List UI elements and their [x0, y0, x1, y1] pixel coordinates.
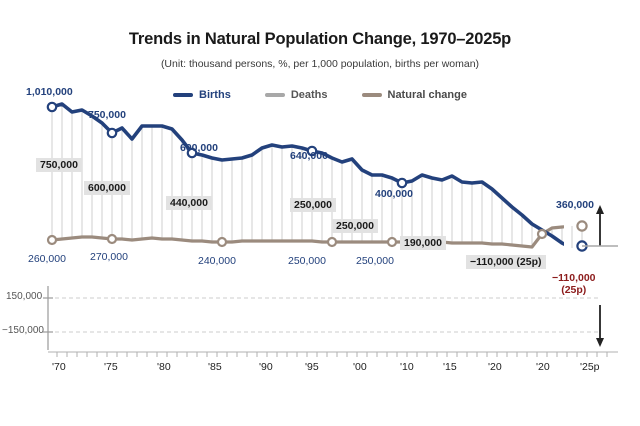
natural-marker-2000 — [328, 238, 336, 246]
y-tick-label-150000: 150,000 — [6, 291, 42, 302]
births-label-2005: 400,000 — [375, 188, 413, 200]
droplines — [52, 104, 582, 248]
x-tick-label-20-b: '20 — [536, 361, 550, 373]
births-markers — [48, 103, 587, 251]
arrow-down-head — [596, 338, 604, 347]
x-tick-label-80: '80 — [157, 361, 171, 373]
x-tick-label-25p: '25p — [580, 361, 600, 373]
natural-label-2000: 250,000 — [288, 255, 326, 267]
natural-marker-2025 — [577, 221, 586, 230]
births-label-1970: 1,010,000 — [26, 86, 73, 98]
x-tick-label-15: '15 — [443, 361, 457, 373]
natural-marker-1976 — [108, 235, 116, 243]
x-tick-label-90: '90 — [259, 361, 273, 373]
natural-marker-2023 — [538, 230, 546, 238]
boxed-label-190000: 190,000 — [400, 236, 446, 250]
boxed-label-250000-a: 250,000 — [290, 198, 336, 212]
natural-marker-1988 — [218, 238, 226, 246]
births-marker-1970 — [48, 103, 56, 111]
x-tick-label-70: '70 — [52, 361, 66, 373]
y-tick-label-neg150000: −150,000 — [2, 325, 44, 336]
births-label-1975: 750,000 — [88, 109, 126, 121]
boxed-label-600000: 600,000 — [84, 181, 130, 195]
boxed-label-750000: 750,000 — [36, 158, 82, 172]
end-value-amount: −110,000 — [552, 272, 596, 284]
births-marker-2005 — [398, 179, 406, 187]
births-label-1995: 640,000 — [290, 150, 328, 162]
natural-marker-2008 — [388, 238, 396, 246]
births-label-1983: 600,000 — [180, 142, 218, 154]
natural-label-1970: 260,000 — [28, 253, 66, 265]
boxed-label-neg110000: −110,000 (25p) — [466, 255, 546, 269]
natural-marker-1970 — [48, 236, 56, 244]
x-tick-label-10: '10 — [400, 361, 414, 373]
x-tick-label-95: '95 — [305, 361, 319, 373]
end-value-year: (25p) — [561, 284, 586, 296]
boxed-label-440000: 440,000 — [166, 196, 212, 210]
x-tick-label-00: '00 — [353, 361, 367, 373]
arrow-up-head — [596, 205, 604, 214]
chart-root: Trends in Natural Population Change, 197… — [0, 0, 640, 426]
x-tick-label-85: '85 — [208, 361, 222, 373]
natural-label-1976: 270,000 — [90, 251, 128, 263]
births-marker-1975 — [108, 129, 116, 137]
end-value-neg110000: −110,000 (25p) — [552, 272, 596, 296]
x-axis-ticks — [57, 352, 607, 357]
births-label-2025: 360,000 — [556, 199, 594, 211]
x-tick-label-75: '75 — [104, 361, 118, 373]
natural-label-1988: 240,000 — [198, 255, 236, 267]
boxed-label-250000-b: 250,000 — [332, 219, 378, 233]
natural-label-2008: 250,000 — [356, 255, 394, 267]
x-tick-label-20-a: '20 — [488, 361, 502, 373]
